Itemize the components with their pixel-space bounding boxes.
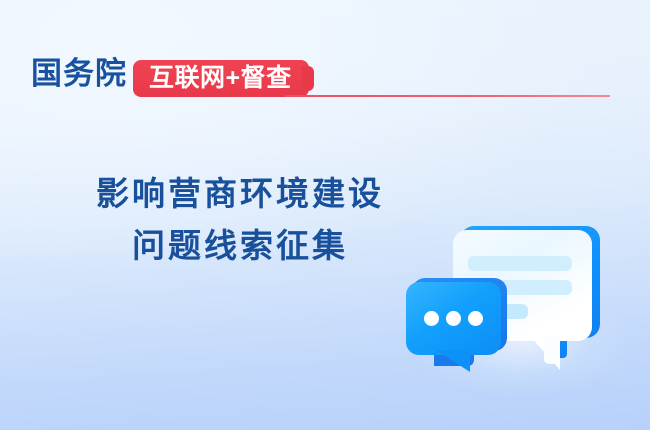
header-divider-rule xyxy=(285,95,610,97)
typing-dot-icon xyxy=(446,311,461,326)
speech-bubbles-illustration xyxy=(398,196,650,430)
gov-council-label: 国务院 xyxy=(31,55,127,93)
topic-badge-label: 互联网+督查 xyxy=(149,64,292,93)
large-bubble-tail-edge-icon xyxy=(544,336,559,364)
bubble-text-bar xyxy=(468,256,572,271)
typing-dot-icon xyxy=(424,311,439,326)
topic-badge: 互联网+督查 xyxy=(133,60,309,97)
small-bubble-tail-icon xyxy=(426,350,470,372)
typing-dot-icon xyxy=(468,311,483,326)
banner-header: 国务院 互联网+督查 xyxy=(0,55,650,103)
promo-banner: 国务院 互联网+督查 影响营商环境建设 问题线索征集 xyxy=(0,0,650,430)
